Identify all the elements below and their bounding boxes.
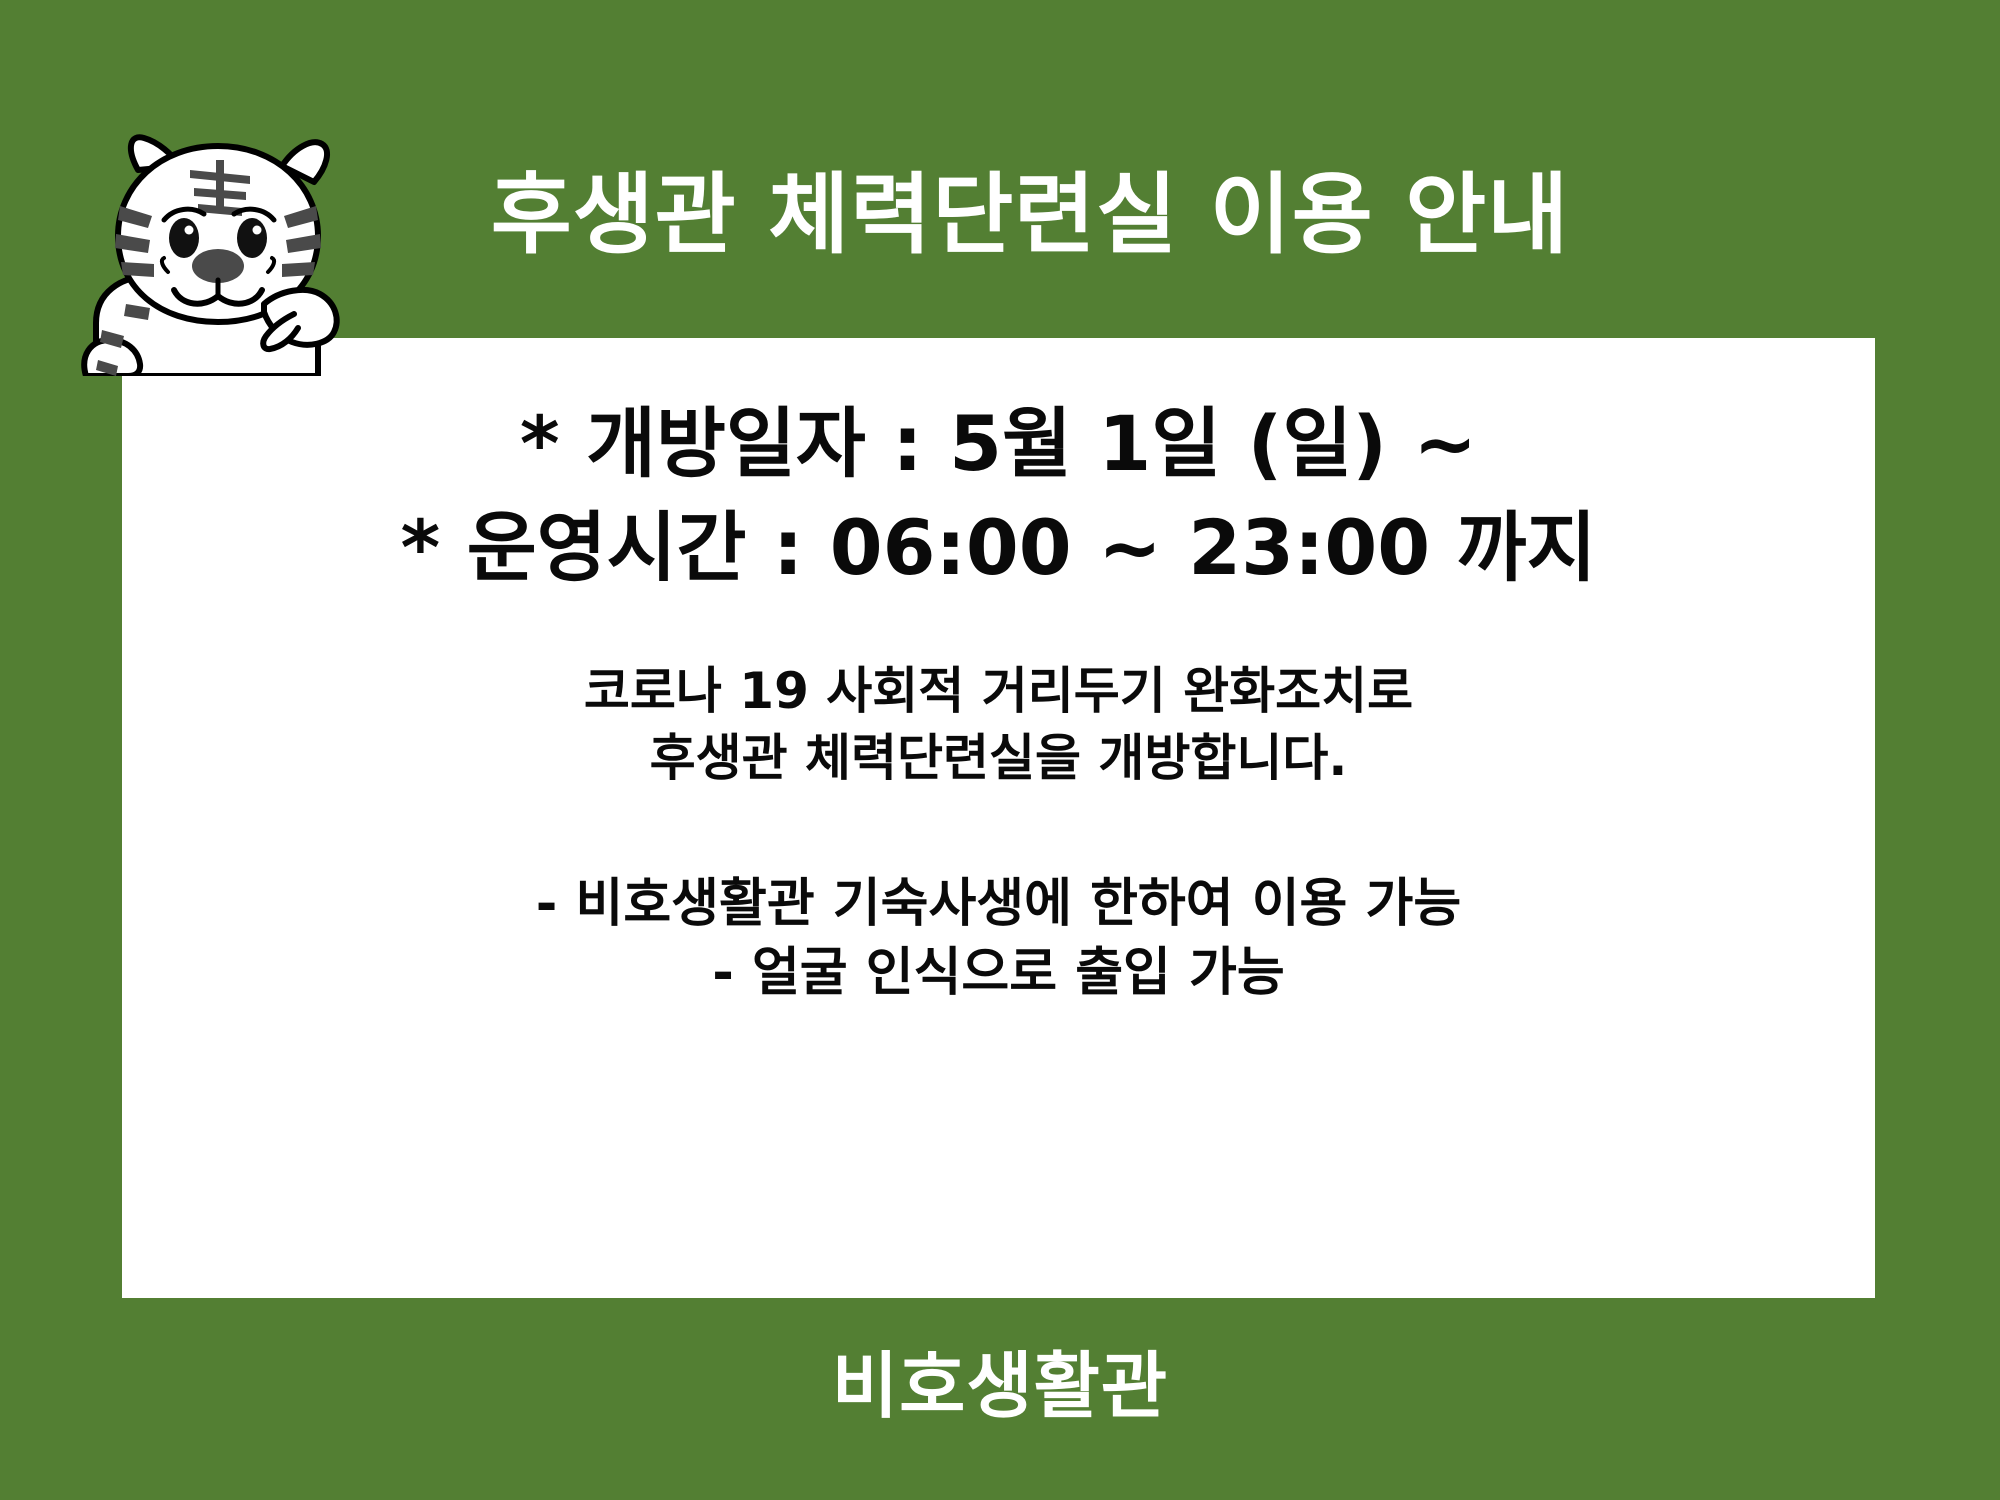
bullet-list: - 비호생활관 기숙사생에 한하여 이용 가능 - 얼굴 인식으로 출입 가능 — [536, 870, 1461, 1009]
tiger-mascot-drawing — [68, 108, 368, 376]
body-line-1: 코로나 19 사회적 거리두기 완화조치로 — [584, 658, 1413, 725]
body-paragraph: 코로나 19 사회적 거리두기 완화조치로 후생관 체력단련실을 개방합니다. — [584, 658, 1413, 792]
open-date-headline: * 개방일자 : 5월 1일 (일) ~ — [520, 396, 1477, 492]
bullet-item-residents-only: - 비호생활관 기숙사생에 한하여 이용 가능 — [536, 870, 1461, 940]
footer: 비호생활관 — [0, 1350, 2000, 1422]
bullet-item-face-recognition: - 얼굴 인식으로 출입 가능 — [536, 939, 1461, 1009]
white-tiger-mascot-icon — [68, 108, 368, 376]
footer-organization-name: 비호생활관 — [832, 1350, 1168, 1422]
operating-hours-headline: * 운영시간 : 06:00 ~ 23:00 까지 — [401, 500, 1597, 596]
content-card: * 개방일자 : 5월 1일 (일) ~ * 운영시간 : 06:00 ~ 23… — [122, 338, 1875, 1298]
tiger-right-eye — [237, 218, 267, 258]
page-title: 후생관 체력단련실 이용 안내 — [431, 171, 1569, 259]
tiger-left-eye — [169, 218, 199, 258]
card-inner: * 개방일자 : 5월 1일 (일) ~ * 운영시간 : 06:00 ~ 23… — [122, 338, 1875, 1298]
body-line-2: 후생관 체력단련실을 개방합니다. — [584, 725, 1413, 792]
poster-root: 후생관 체력단련실 이용 안내 — [0, 0, 2000, 1500]
